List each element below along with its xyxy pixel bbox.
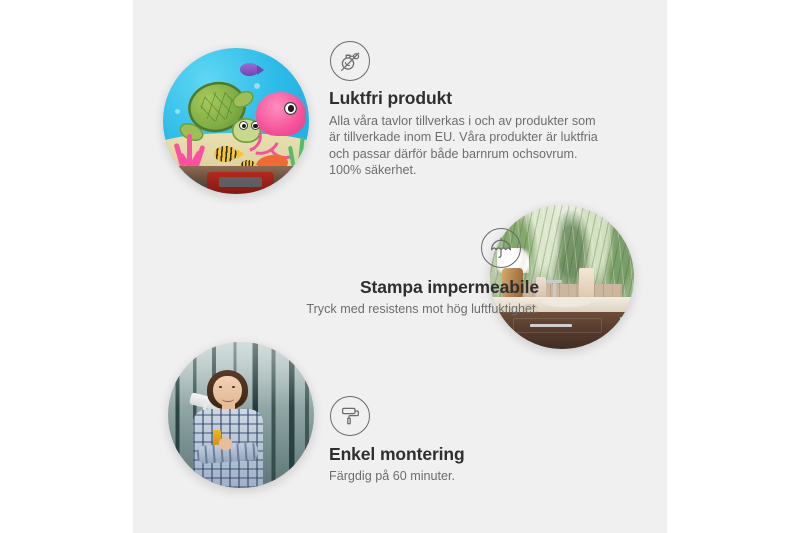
feature-description: Tryck med resistens mot hög luftfuktighe… <box>209 301 539 317</box>
no-odour-spray-icon <box>330 41 370 81</box>
purple-fish-icon <box>240 63 259 76</box>
drawer-handle <box>530 324 572 327</box>
woman-eye <box>219 386 222 388</box>
content-panel: Luktfri produkt Alla våra tavlor tillver… <box>133 0 667 533</box>
toiletry-bottle <box>579 268 593 300</box>
paint-roller-icon <box>330 396 370 436</box>
feature-odour-free: Luktfri produkt Alla våra tavlor tillver… <box>329 41 619 179</box>
feature-title: Enkel montering <box>329 444 619 465</box>
woman-smile <box>222 396 234 402</box>
umbrella-icon <box>481 228 521 268</box>
feature-waterproof: Stampa impermeabile Tryck med resistens … <box>209 228 539 317</box>
coral-icon <box>173 133 214 168</box>
underwater-illustration <box>163 48 309 194</box>
photo-underwater <box>163 48 309 194</box>
feature-description: Färgdig på 60 minuter. <box>329 468 619 484</box>
red-sofa <box>207 172 274 192</box>
faucet <box>553 280 556 297</box>
promo-graphic: Luktfri produkt Alla våra tavlor tillver… <box>0 0 800 533</box>
painter-scene <box>168 342 314 488</box>
woman-eye <box>232 386 235 388</box>
cabinet-handle <box>620 317 623 334</box>
feature-title: Stampa impermeabile <box>209 277 539 298</box>
feature-title: Luktfri produkt <box>329 88 619 109</box>
bubble-icon <box>254 83 260 89</box>
woman-hand <box>219 438 232 450</box>
feature-easy-mounting: Enkel montering Färgdig på 60 minuter. <box>329 396 619 484</box>
photo-painter <box>168 342 314 488</box>
feature-description: Alla våra tavlor tillverkas i och av pro… <box>329 113 605 179</box>
